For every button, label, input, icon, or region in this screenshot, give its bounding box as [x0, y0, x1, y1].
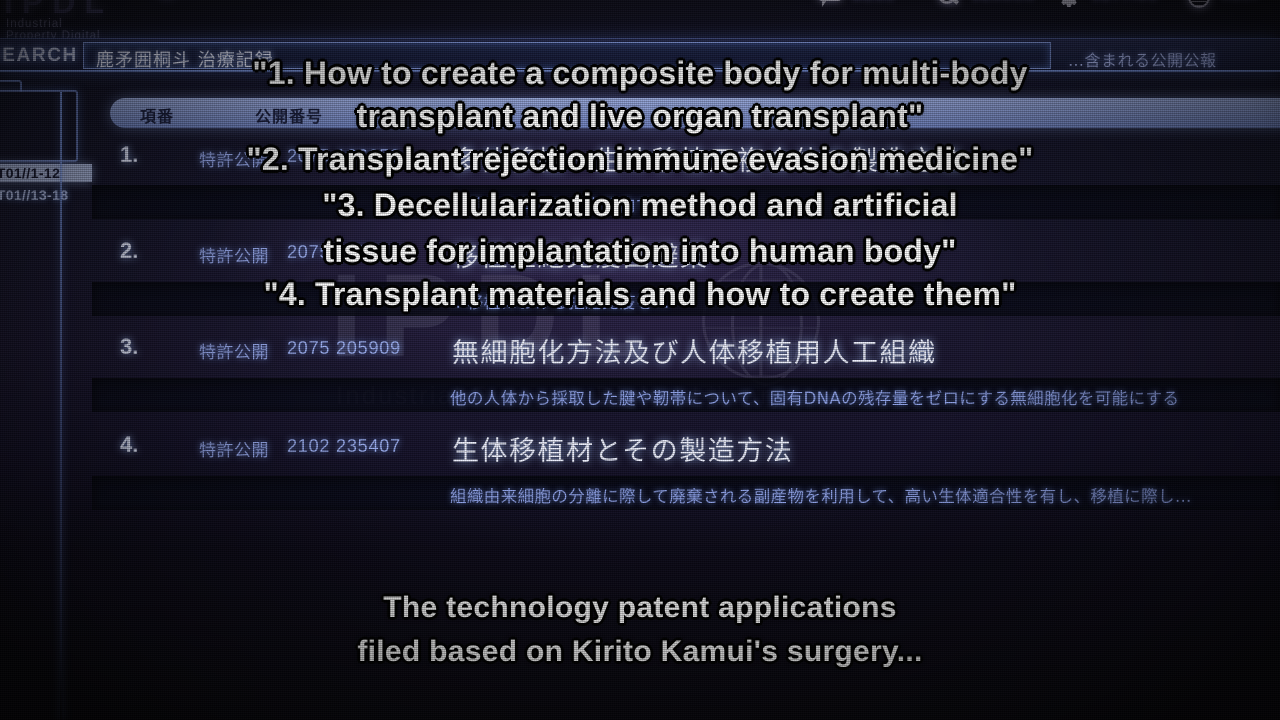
subtitle-bottom-line-2: filed based on Kirito Kamui's surgery... [0, 630, 1280, 674]
speech-bubble-icon [818, 0, 842, 1]
subtitle-line-6: "4. Transplant materials and how to crea… [0, 273, 1280, 316]
subtitle-line-2: transplant and live organ transplant" [0, 95, 1280, 138]
nav-label-search: SEARCH [972, 0, 1036, 3]
app-logo: IPDL Industrial Property Digital Library [4, 0, 113, 21]
row-title: 無細胞化方法及び人体移植用人工組織 [452, 331, 937, 370]
nav-label-help: HELP [1222, 0, 1263, 3]
row-index: 3. [120, 334, 138, 360]
row-kind: 特許公開 [199, 436, 269, 461]
subtitle-line-1: "1. How to create a composite body for m… [0, 52, 1280, 95]
gear-icon [1058, 0, 1080, 8]
row-index: 4. [120, 432, 138, 458]
subtitle-line-5: tissue for implantation into human body" [0, 230, 1280, 273]
nav-label-menu: MENU [852, 0, 896, 3]
nav-label-setting: SETTING [1092, 0, 1159, 3]
row-description: 他の人体から採取した腱や靭帯について、固有DNAの残存量をゼロにする無細胞化を可… [92, 378, 1280, 412]
app-header: IPDL Industrial Property Digital Library… [0, 0, 1280, 36]
magnifier-icon [938, 0, 958, 6]
row-title: 生体移植材とその製造方法 [452, 429, 793, 468]
row-number: 2102 235407 [287, 436, 401, 457]
ipdl-terminal-screen: IPDL Industrial Property Digital Library… [0, 0, 1280, 720]
row-description-text: 組織由来細胞の分離に際して廃棄される副産物を利用して、高い生体適合性を有し、移植… [450, 483, 1192, 507]
row-description-text: 他の人体から採取した腱や靭帯について、固有DNAの残存量をゼロにする無細胞化を可… [450, 385, 1179, 409]
row-kind: 特許公開 [199, 338, 269, 363]
row-number: 2075 205909 [287, 338, 401, 359]
subtitle-bottom-line-1: The technology patent applications [0, 586, 1280, 630]
subtitle-line-3: "2. Transplant rejection immune evasion … [0, 138, 1280, 181]
globe-icon [1188, 0, 1210, 8]
row-description: 組織由来細胞の分離に際して廃棄される副産物を利用して、高い生体適合性を有し、移植… [92, 476, 1280, 510]
subtitle-line-4: "3. Decellularization method and artific… [0, 184, 1280, 227]
